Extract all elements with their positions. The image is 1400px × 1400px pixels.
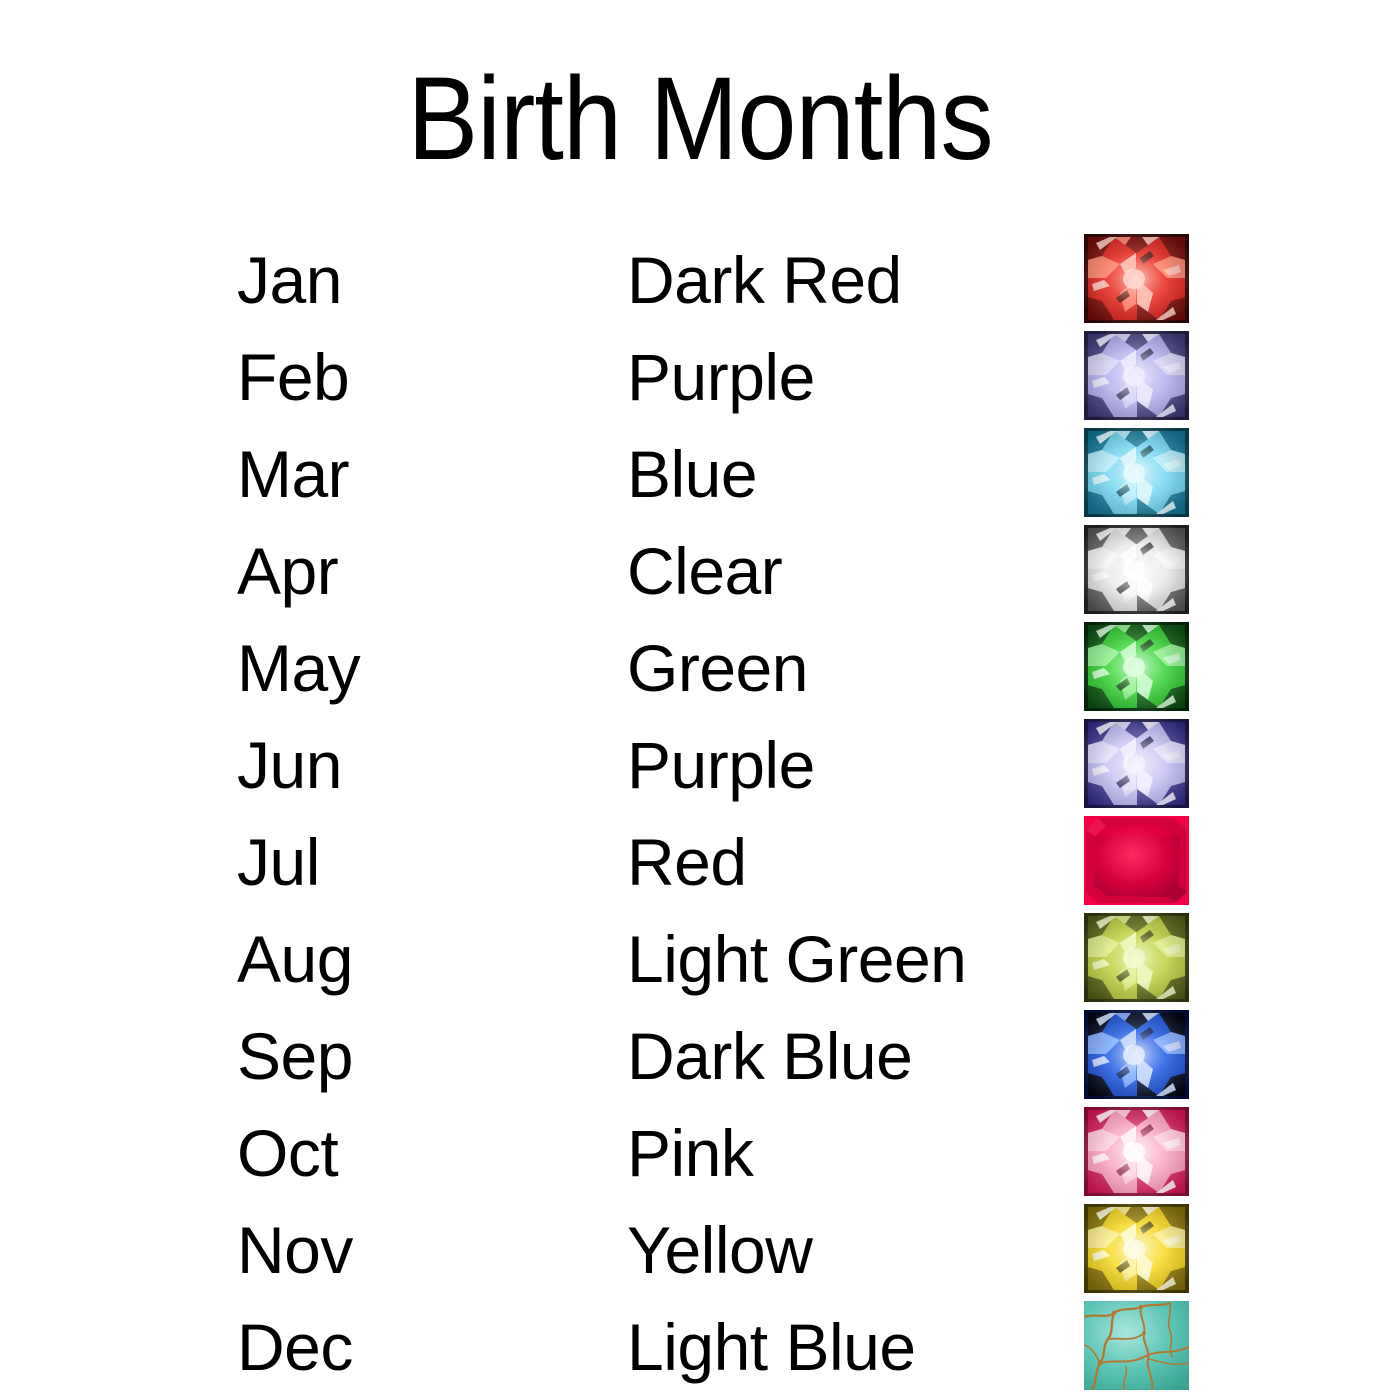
gemstone-princess-cut-icon — [1084, 622, 1189, 711]
gemstone-princess-cut-icon — [1084, 525, 1189, 614]
gemstone-princess-cut-icon — [1084, 428, 1189, 517]
month-label: Jan — [237, 231, 342, 328]
month-label: Jun — [237, 716, 342, 813]
birth-months-infographic: Birth Months JanDark RedFebPurpleMarBlue… — [0, 0, 1400, 1400]
color-name-label: Blue — [627, 425, 757, 522]
gemstone-cushion-cut-icon — [1084, 816, 1189, 905]
month-label: Sep — [237, 1007, 353, 1104]
turquoise-cabochon-icon — [1084, 1301, 1189, 1390]
table-row: JanDark Red — [0, 231, 1400, 328]
table-row: JulRed — [0, 813, 1400, 910]
table-row: AprClear — [0, 522, 1400, 619]
gemstone-princess-cut-icon — [1084, 719, 1189, 808]
gemstone-princess-cut-icon — [1084, 913, 1189, 1002]
color-name-label: Clear — [627, 522, 782, 619]
color-name-label: Green — [627, 619, 808, 716]
month-label: Apr — [237, 522, 338, 619]
color-name-label: Light Blue — [627, 1298, 916, 1395]
month-label: Feb — [237, 328, 349, 425]
month-label: May — [237, 619, 360, 716]
gemstone-princess-cut-icon — [1084, 234, 1189, 323]
color-name-label: Pink — [627, 1104, 753, 1201]
color-name-label: Yellow — [627, 1201, 812, 1298]
color-name-label: Purple — [627, 716, 815, 813]
table-row: NovYellow — [0, 1201, 1400, 1298]
color-name-label: Dark Red — [627, 231, 902, 328]
month-label: Nov — [237, 1201, 353, 1298]
month-label: Dec — [237, 1298, 353, 1395]
table-row: SepDark Blue — [0, 1007, 1400, 1104]
table-row: MarBlue — [0, 425, 1400, 522]
month-label: Aug — [237, 910, 353, 1007]
gemstone-princess-cut-icon — [1084, 1107, 1189, 1196]
color-name-label: Purple — [627, 328, 815, 425]
gemstone-princess-cut-icon — [1084, 1010, 1189, 1099]
color-name-label: Light Green — [627, 910, 966, 1007]
birth-months-table: JanDark RedFebPurpleMarBlueAprClearMayGr… — [0, 231, 1400, 1395]
month-label: Oct — [237, 1104, 338, 1201]
month-label: Jul — [237, 813, 320, 910]
page-title: Birth Months — [70, 60, 1330, 178]
table-row: JunPurple — [0, 716, 1400, 813]
color-name-label: Dark Blue — [627, 1007, 912, 1104]
table-row: MayGreen — [0, 619, 1400, 716]
month-label: Mar — [237, 425, 349, 522]
table-row: AugLight Green — [0, 910, 1400, 1007]
gemstone-princess-cut-icon — [1084, 331, 1189, 420]
gemstone-princess-cut-icon — [1084, 1204, 1189, 1293]
color-name-label: Red — [627, 813, 747, 910]
table-row: FebPurple — [0, 328, 1400, 425]
table-row: DecLight Blue — [0, 1298, 1400, 1395]
table-row: OctPink — [0, 1104, 1400, 1201]
